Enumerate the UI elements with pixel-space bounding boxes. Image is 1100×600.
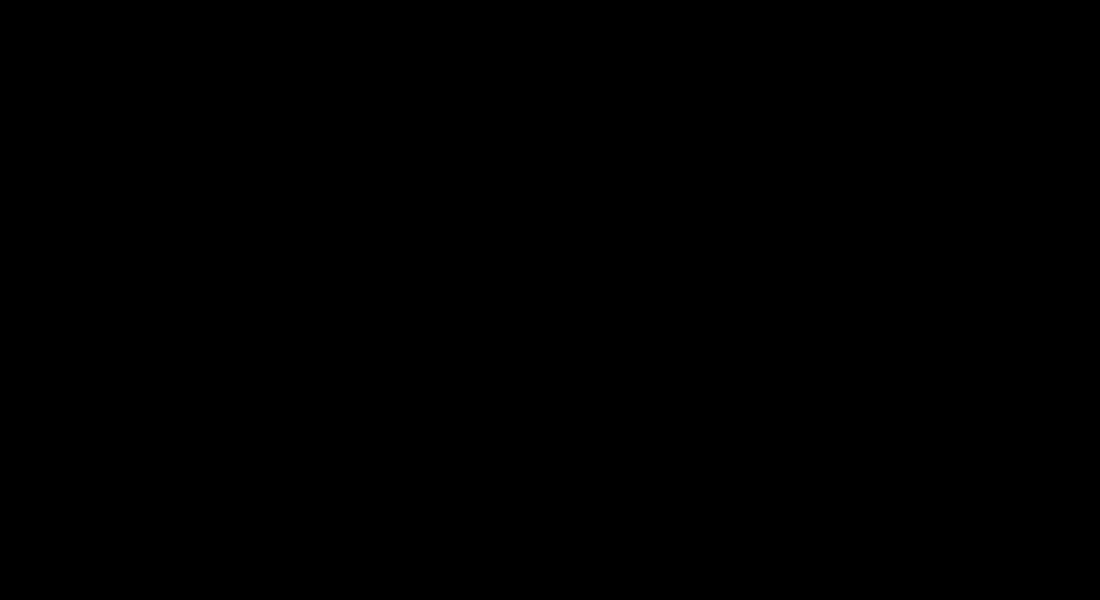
map-canvas [0,0,1100,600]
map-figure [0,0,1100,600]
